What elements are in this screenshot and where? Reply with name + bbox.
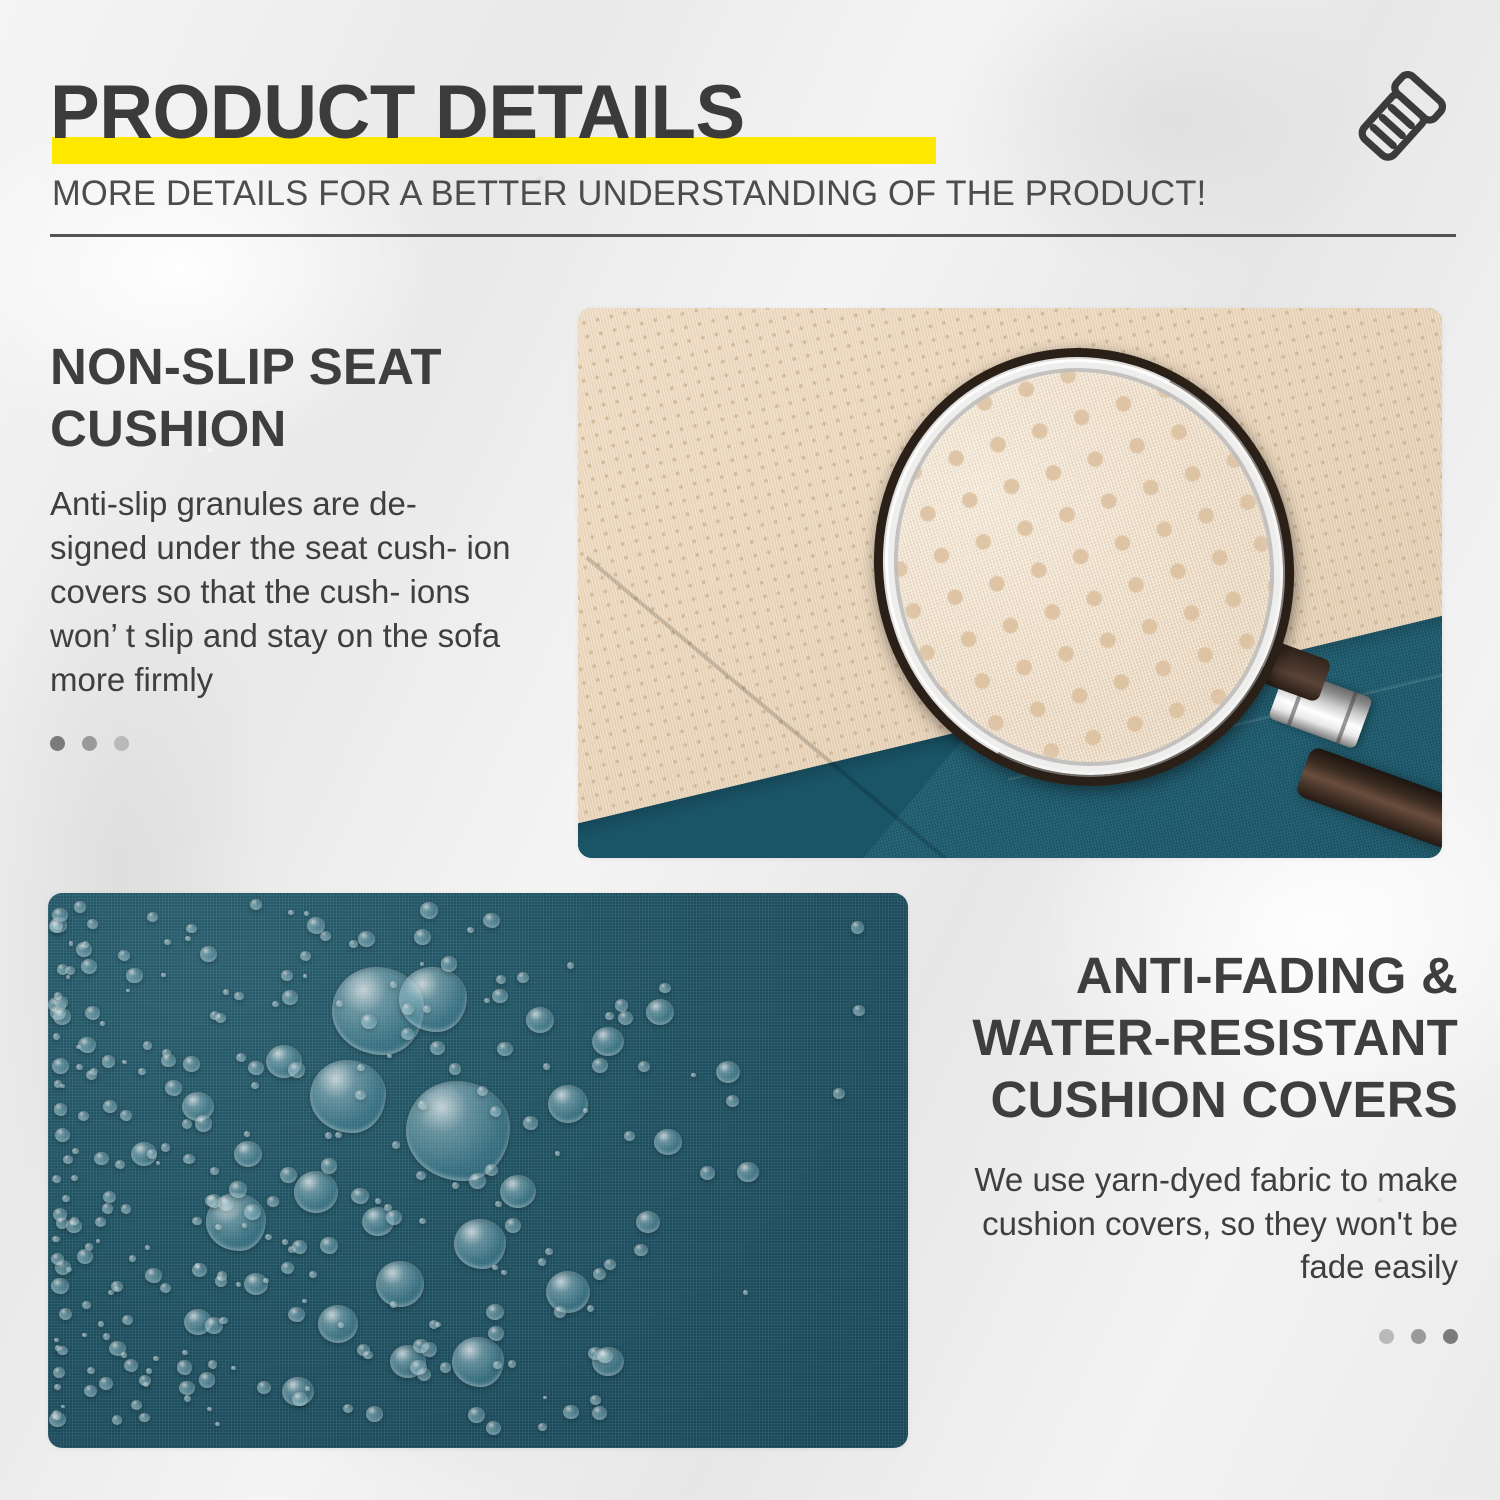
water-droplet <box>129 1255 136 1262</box>
water-droplet <box>96 1239 101 1243</box>
water-droplet <box>62 1195 70 1203</box>
water-droplet <box>100 1021 105 1025</box>
water-droplet <box>244 1204 261 1220</box>
water-droplet <box>304 911 309 916</box>
water-droplet <box>84 1385 97 1397</box>
water-droplet <box>250 899 262 910</box>
water-droplet <box>121 1352 127 1358</box>
water-droplet <box>139 1375 152 1387</box>
water-droplet <box>207 1194 221 1207</box>
header: PRODUCT DETAILS MORE DETAILS FOR A BETTE… <box>50 75 1456 237</box>
water-droplet <box>292 1392 307 1406</box>
water-droplet <box>98 1321 104 1326</box>
water-droplet <box>592 1027 624 1056</box>
water-droplet <box>469 1173 487 1189</box>
water-droplet <box>288 910 294 915</box>
water-droplet <box>147 912 158 922</box>
dot-3 <box>1443 1329 1458 1344</box>
water-droplet <box>604 1259 616 1270</box>
water-droplet <box>51 1278 68 1294</box>
water-droplet <box>325 1132 332 1138</box>
water-droplet <box>624 1131 635 1141</box>
water-droplet <box>61 1405 65 1409</box>
water-droplet <box>390 1301 397 1308</box>
water-droplet <box>146 1368 152 1374</box>
water-droplet <box>208 1360 217 1369</box>
water-droplet <box>351 1188 369 1204</box>
water-droplet <box>302 1299 307 1304</box>
water-droplet <box>263 1278 269 1283</box>
water-droplet <box>288 1062 304 1077</box>
water-droplet <box>215 1013 226 1024</box>
progress-dots-right <box>930 1329 1458 1344</box>
water-droplet <box>121 1204 132 1214</box>
water-droplet <box>182 1119 193 1129</box>
water-droplet <box>592 1058 608 1073</box>
water-droplet <box>103 1100 117 1113</box>
water-droplet <box>57 964 69 975</box>
water-droplet <box>77 1249 93 1264</box>
water-droplet <box>305 1386 310 1391</box>
water-droplet <box>49 920 63 933</box>
dot-1 <box>1379 1329 1394 1344</box>
water-droplet <box>219 1317 227 1325</box>
feature-non-slip-seat-cushion-text: NON-SLIP SEAT CUSHION Anti-slip granules… <box>50 336 520 751</box>
water-droplet <box>85 1006 100 1020</box>
feature-body-anti-fading: We use yarn-dyed fabric to make cushion … <box>930 1158 1458 1290</box>
water-droplet <box>387 1054 392 1058</box>
water-droplet <box>486 1421 502 1435</box>
water-droplet <box>307 917 325 933</box>
water-droplet <box>143 1041 152 1049</box>
photo-magnifier-over-cushion-underside <box>578 308 1442 858</box>
water-droplet <box>654 1129 682 1155</box>
header-divider <box>50 234 1456 237</box>
water-droplet <box>497 1042 513 1057</box>
water-droplet <box>399 967 467 1032</box>
water-droplet <box>236 1282 241 1287</box>
dot-1 <box>50 736 65 751</box>
page-title: PRODUCT DETAILS <box>50 75 745 151</box>
water-droplet <box>52 1058 69 1074</box>
water-droplet <box>833 1088 845 1099</box>
water-droplet <box>63 1155 73 1164</box>
water-droplet <box>207 1407 211 1411</box>
water-droplet <box>185 936 191 941</box>
water-droplet <box>76 1064 83 1071</box>
water-droplet <box>501 1270 507 1276</box>
water-droplet <box>492 1265 497 1270</box>
water-droplet <box>743 1290 748 1295</box>
water-droplet <box>56 1217 68 1228</box>
water-droplet <box>592 1406 608 1420</box>
water-droplet <box>120 1110 133 1122</box>
water-droplet <box>160 1283 171 1293</box>
water-droplet <box>72 1148 79 1154</box>
water-droplet <box>177 1360 193 1375</box>
water-droplet <box>184 1395 191 1402</box>
water-droplet <box>215 1224 222 1231</box>
water-droplet <box>523 1116 538 1130</box>
water-droplet <box>618 1011 633 1025</box>
water-droplet <box>242 1223 247 1228</box>
water-droplet <box>605 1012 613 1020</box>
water-droplet <box>392 1141 400 1149</box>
water-droplet <box>851 921 865 933</box>
water-droplet <box>131 1400 142 1410</box>
water-droplet <box>147 1149 157 1158</box>
water-droplet <box>231 1366 235 1370</box>
water-droplet <box>265 1234 272 1241</box>
water-droplet <box>597 1349 612 1363</box>
dot-2 <box>82 736 97 751</box>
water-droplet <box>223 989 229 995</box>
water-droplet <box>485 1164 498 1176</box>
water-droplet <box>195 1115 213 1131</box>
water-droplet <box>66 1219 81 1233</box>
water-droplet <box>517 972 529 983</box>
water-droplet <box>71 1175 78 1181</box>
water-droplet <box>335 1132 342 1138</box>
water-droplet <box>229 1181 247 1197</box>
water-droplet <box>49 1412 66 1428</box>
water-droplet <box>659 983 671 994</box>
water-droplet <box>430 1041 445 1055</box>
water-droplet <box>716 1061 740 1083</box>
water-droplet <box>419 1218 426 1225</box>
water-droplet <box>634 1244 647 1256</box>
water-droplet <box>272 1001 279 1007</box>
water-droplet <box>483 913 499 928</box>
water-droplet <box>538 1423 547 1431</box>
water-droplet <box>543 1396 547 1400</box>
water-droplet <box>615 999 629 1011</box>
water-droplet <box>183 1154 194 1164</box>
water-droplet <box>99 1377 113 1390</box>
water-droplet <box>545 1248 553 1255</box>
water-droplet <box>78 1037 96 1053</box>
water-droplet <box>526 1007 554 1033</box>
water-droplet <box>53 1033 60 1040</box>
water-droplet <box>853 1005 864 1015</box>
water-droplet <box>234 1141 262 1167</box>
water-droplet <box>210 1167 219 1175</box>
water-droplet <box>156 1161 160 1165</box>
water-droplet <box>700 1166 715 1180</box>
water-droplet <box>423 1005 431 1012</box>
water-droplet <box>343 1404 353 1413</box>
water-droplet <box>267 1196 278 1206</box>
water-droplet <box>320 931 331 941</box>
page-title-wrapper: PRODUCT DETAILS <box>50 75 759 151</box>
water-droplet <box>186 924 196 933</box>
water-droplet <box>192 1217 201 1225</box>
water-droplet <box>376 1261 424 1307</box>
water-droplet <box>126 968 142 983</box>
water-droplet <box>486 1304 504 1320</box>
water-droplet <box>55 1128 70 1142</box>
water-droplet <box>78 1111 89 1121</box>
water-droplet <box>538 1258 546 1265</box>
water-droplet <box>554 1306 567 1318</box>
water-droplet <box>234 992 243 1001</box>
feature-body-non-slip: Anti-slip granules are de- signed under … <box>50 482 520 701</box>
screw-bolt-icon <box>1352 70 1448 166</box>
water-droplet <box>737 1162 759 1182</box>
water-droplet <box>161 973 165 977</box>
water-droplet <box>390 981 397 987</box>
water-droplet <box>587 1305 594 1312</box>
water-droplet <box>349 940 358 948</box>
water-droplet <box>59 1308 72 1320</box>
water-droplet <box>51 1253 64 1265</box>
water-droplet <box>401 1028 414 1040</box>
water-droplet <box>103 1333 110 1339</box>
water-droplet <box>555 1151 560 1156</box>
water-droplet <box>492 989 507 1003</box>
photo-water-droplets-on-fabric <box>48 893 908 1448</box>
water-droplet <box>366 1406 383 1422</box>
water-droplet <box>215 1422 220 1427</box>
water-droplet <box>102 1055 115 1067</box>
water-droplet <box>410 1360 427 1375</box>
water-droplet <box>103 1191 116 1203</box>
water-droplet <box>546 1271 590 1313</box>
water-droplet <box>441 956 458 971</box>
water-droplet <box>183 1056 200 1071</box>
water-droplet <box>416 1171 426 1181</box>
water-droplet <box>54 1080 62 1088</box>
water-droplet <box>467 927 474 933</box>
water-droplet <box>69 941 74 946</box>
water-droplet <box>468 1407 485 1423</box>
water-droplet <box>310 1060 386 1133</box>
feature-heading-anti-fading: ANTI-FADING &WATER-RESISTANTCUSHION COVE… <box>930 945 1458 1132</box>
water-droplet <box>87 1367 95 1374</box>
water-droplet <box>124 1359 138 1372</box>
water-droplet <box>161 1054 176 1067</box>
water-droplet <box>493 1361 501 1369</box>
water-droplet <box>126 989 130 993</box>
water-droplet <box>122 1315 133 1325</box>
feature-anti-fading-text: ANTI-FADING &WATER-RESISTANTCUSHION COVE… <box>930 945 1458 1344</box>
water-droplet <box>54 1338 59 1343</box>
water-droplet <box>386 1210 402 1225</box>
water-droplet <box>112 1415 122 1425</box>
water-droplet <box>309 1271 317 1278</box>
water-droplet <box>81 959 97 974</box>
water-droplet <box>300 951 311 961</box>
water-droplet <box>86 1070 97 1080</box>
water-droplet <box>280 1167 298 1183</box>
water-droplet <box>281 970 293 981</box>
water-droplet <box>500 1175 536 1208</box>
water-droplet <box>192 1263 207 1277</box>
water-droplet <box>74 901 86 912</box>
water-droplet <box>282 1239 288 1245</box>
product-details-infographic: PRODUCT DETAILS MORE DETAILS FOR A BETTE… <box>0 0 1500 1500</box>
water-droplet <box>54 1103 67 1115</box>
water-droplet <box>153 1356 158 1361</box>
water-droplet <box>288 1307 305 1323</box>
water-droplet <box>138 1068 146 1075</box>
water-droplet <box>55 1345 61 1351</box>
water-droplet <box>54 1384 61 1390</box>
page-subtitle: MORE DETAILS FOR A BETTER UNDERSTANDING … <box>52 174 1435 214</box>
water-droplet <box>145 1245 150 1250</box>
water-droplet <box>543 1063 550 1070</box>
water-droplet <box>164 939 171 945</box>
water-droplet <box>375 1198 381 1203</box>
water-droplet <box>414 929 431 945</box>
water-droplet <box>646 999 674 1025</box>
water-droplet <box>294 1171 338 1213</box>
water-droplet <box>402 1003 414 1014</box>
water-droplet <box>435 1322 441 1327</box>
water-droplet <box>165 1080 181 1095</box>
water-droplet <box>726 1095 739 1107</box>
water-droplet <box>248 1061 263 1075</box>
water-droplet <box>452 1182 459 1189</box>
water-droplet <box>139 1413 149 1422</box>
water-droplet <box>358 931 375 946</box>
dot-2 <box>1411 1329 1426 1344</box>
water-droplet <box>303 974 307 978</box>
water-droplet <box>282 990 298 1005</box>
water-droplet <box>495 1201 501 1207</box>
water-droplet <box>182 1350 188 1355</box>
water-droplet <box>122 1060 127 1064</box>
water-droplet <box>593 1268 606 1280</box>
water-droplet <box>691 1073 695 1077</box>
water-droplet <box>111 1281 123 1292</box>
water-droplet <box>563 1405 578 1419</box>
water-droplet <box>52 1236 59 1243</box>
water-droplet <box>281 1262 294 1274</box>
water-droplet <box>505 1218 521 1233</box>
water-droplet <box>95 1217 106 1227</box>
water-droplet <box>418 1100 428 1110</box>
water-droplet <box>161 1143 171 1152</box>
water-droplet <box>321 1158 338 1174</box>
water-droplet <box>449 1063 462 1075</box>
water-droplet <box>413 1339 429 1354</box>
water-droplet <box>200 946 217 962</box>
water-droplet <box>82 1301 91 1309</box>
water-droplet <box>638 1061 651 1073</box>
water-droplet <box>236 1053 247 1063</box>
water-droplet <box>567 962 574 969</box>
water-droplet <box>199 1372 216 1387</box>
water-droplet <box>115 1160 125 1169</box>
water-droplet <box>145 1268 162 1284</box>
water-droplet <box>76 942 92 957</box>
progress-dots-left <box>50 736 520 751</box>
water-droplet <box>355 1090 366 1100</box>
water-droplet <box>583 1108 588 1112</box>
water-droplet <box>338 1322 344 1327</box>
water-droplet <box>52 1175 61 1183</box>
water-droplet <box>179 1381 194 1395</box>
water-droplet <box>363 1351 372 1360</box>
water-droplet <box>53 1008 71 1025</box>
water-droplet <box>118 950 130 961</box>
water-droplet <box>244 1131 250 1137</box>
water-droplet <box>102 1203 114 1214</box>
water-droplet <box>548 1085 588 1123</box>
water-droplet <box>508 1360 516 1368</box>
water-droplet <box>590 1395 601 1405</box>
water-droplet <box>251 1082 259 1090</box>
water-droplet <box>257 1381 272 1394</box>
water-droplet <box>484 998 490 1003</box>
water-droplet <box>490 1106 502 1117</box>
water-droplet <box>66 975 70 979</box>
water-droplet <box>320 1237 338 1253</box>
water-droplet <box>292 1240 307 1254</box>
water-droplet <box>94 1152 108 1165</box>
water-droplet <box>636 1211 660 1233</box>
water-droplet <box>244 1273 268 1295</box>
water-droplet <box>488 1326 504 1341</box>
water-droplet <box>82 1333 87 1337</box>
dot-3 <box>114 736 129 751</box>
water-droplet <box>215 1275 228 1287</box>
water-droplet <box>440 1362 452 1373</box>
water-droplet <box>420 962 424 966</box>
feature-heading-non-slip: NON-SLIP SEAT CUSHION <box>50 336 520 460</box>
water-droplet <box>420 902 438 918</box>
water-droplet <box>496 975 506 984</box>
water-droplet <box>87 919 98 929</box>
water-droplet <box>53 1367 66 1379</box>
water-droplet <box>454 1219 506 1269</box>
